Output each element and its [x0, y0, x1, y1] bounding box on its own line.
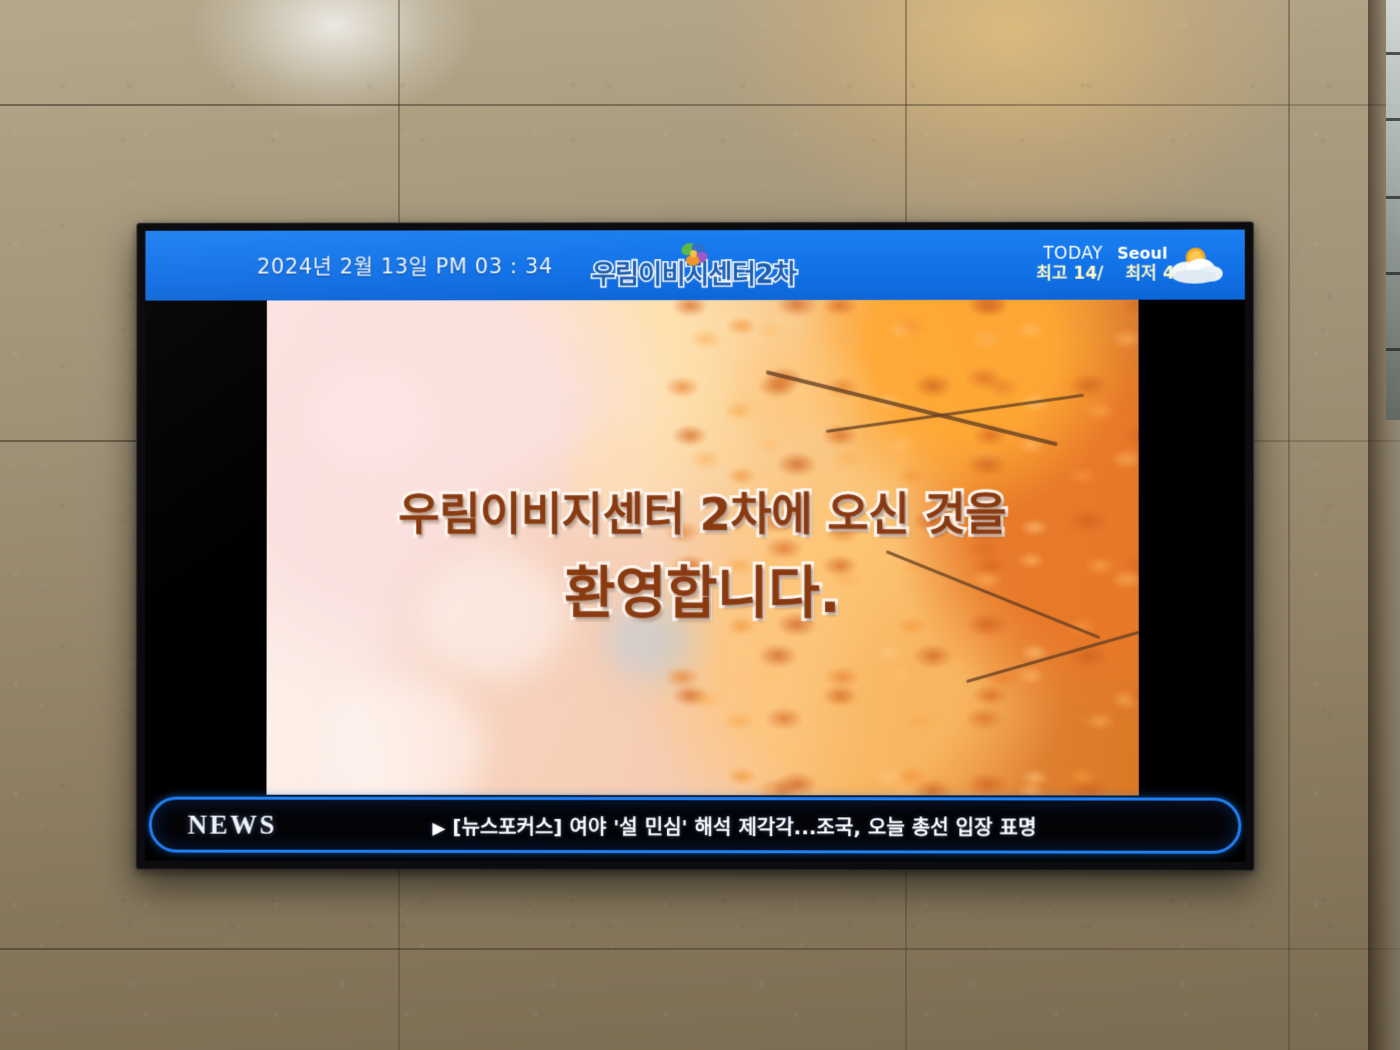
weather-text-group: TODAY Seoul 최고 14/ 최저 4: [1036, 245, 1174, 284]
weather-temperature-row: 최고 14/ 최저 4: [1036, 265, 1174, 285]
wall-grout-line: [0, 948, 1400, 950]
signage-header-bar: 2024년 2월 13일 PM 03 : 34 우림이비지센터2차 T: [145, 230, 1244, 301]
weather-high-temp: 최고 14/: [1036, 265, 1103, 285]
wall-grout-line: [1288, 0, 1290, 1050]
brand-logo: 우림이비지센터2차: [592, 242, 797, 288]
signage-television: 2024년 2월 13일 PM 03 : 34 우림이비지센터2차 T: [136, 222, 1255, 871]
welcome-message: 우림이비지센터 2차에 오신 것을 환영합니다.: [266, 300, 1138, 796]
ceiling-slat: [1386, 196, 1400, 199]
tv-screen: 2024년 2월 13일 PM 03 : 34 우림이비지센터2차 T: [145, 230, 1246, 862]
background-corridor: [1386, 0, 1400, 420]
ceiling-slat: [1386, 348, 1400, 351]
signage-content-area: 우림이비지센터 2차에 오신 것을 환영합니다.: [145, 300, 1245, 796]
play-triangle-icon: ▶: [432, 818, 445, 838]
weather-city-label: Seoul: [1117, 245, 1167, 263]
weather-widget: TODAY Seoul 최고 14/ 최저 4: [1036, 244, 1227, 286]
sun-behind-cloud-icon: [1165, 244, 1227, 286]
datetime-display: 2024년 2월 13일 PM 03 : 34: [257, 250, 553, 280]
welcome-slide: 우림이비지센터 2차에 오신 것을 환영합니다.: [266, 300, 1138, 796]
news-pill-container: NEWS ▶[뉴스포커스] 여야 '설 민심' 해석 제각각...조국, 오늘 …: [149, 797, 1242, 854]
news-ticker[interactable]: ▶[뉴스포커스] 여야 '설 민심' 해석 제각각...조국, 오늘 총선 입장…: [152, 810, 1239, 840]
news-bar: NEWS ▶[뉴스포커스] 여야 '설 민심' 해석 제각각...조국, 오늘 …: [145, 795, 1246, 862]
four-petal-flower-icon: [679, 242, 709, 268]
welcome-line-1: 우림이비지센터 2차에 오신 것을: [398, 491, 1006, 538]
news-headline-text: [뉴스포커스] 여야 '설 민심' 해석 제각각...조국, 오늘 총선 입장 …: [452, 814, 1036, 839]
ceiling-slat: [1386, 118, 1400, 121]
wall-grout-line: [0, 104, 1400, 106]
ceiling-slat: [1386, 52, 1400, 55]
lobby-scene: 2024년 2월 13일 PM 03 : 34 우림이비지센터2차 T: [0, 0, 1400, 1050]
ceiling-slat: [1386, 272, 1400, 275]
weather-location-row: TODAY Seoul: [1043, 245, 1167, 265]
welcome-line-2: 환영합니다.: [564, 565, 840, 624]
weather-today-label: TODAY: [1043, 245, 1103, 265]
